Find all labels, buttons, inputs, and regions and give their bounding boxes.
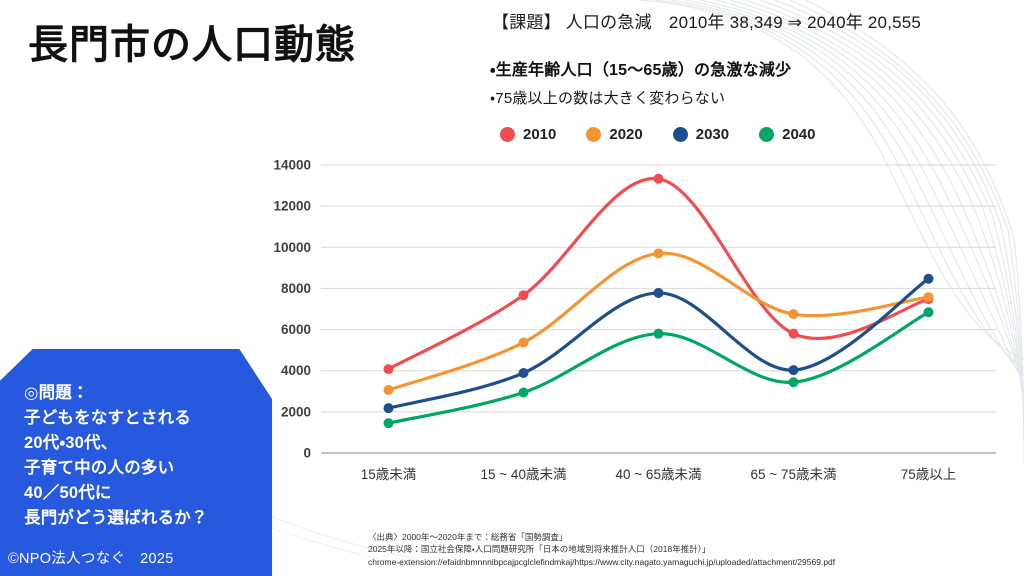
chart-data-point[interactable]: [789, 329, 799, 339]
chart-data-point[interactable]: [384, 418, 394, 428]
chart-data-point[interactable]: [519, 368, 529, 378]
x-axis-tick-label: 65 ~ 75歳未満: [751, 467, 837, 482]
legend-item-2040[interactable]: 2040: [759, 126, 815, 143]
chart-data-point[interactable]: [654, 248, 664, 258]
x-axis-tick-label: 15 ~ 40歳未満: [481, 467, 567, 482]
legend-swatch-circle-icon: [673, 127, 688, 142]
chart-data-point[interactable]: [654, 329, 664, 339]
chart-series-line: [389, 279, 929, 408]
callout-line-3: 20代・30代、: [24, 431, 264, 456]
population-line-chart: 0200040006000800010000120001400015歳未満15 …: [265, 150, 1010, 515]
callout-line-1: ◎問題：: [24, 381, 264, 406]
legend-label: 2010: [523, 126, 556, 143]
chart-data-point[interactable]: [654, 174, 664, 184]
x-axis-tick-label: 75歳以上: [901, 467, 957, 482]
chart-data-point[interactable]: [924, 274, 934, 284]
legend-item-2020[interactable]: 2020: [586, 126, 642, 143]
legend-item-2010[interactable]: 2010: [500, 126, 556, 143]
y-axis-tick-label: 2000: [281, 404, 311, 419]
page-title: 長門市の人口動態: [28, 12, 356, 70]
chart-legend: 2010 2020 2030 2040: [500, 126, 816, 143]
copyright-text: ©NPO法人つなぐ 2025: [8, 547, 174, 568]
legend-label: 2030: [696, 126, 729, 143]
chart-data-point[interactable]: [789, 365, 799, 375]
chart-data-point[interactable]: [924, 307, 934, 317]
chart-data-point[interactable]: [384, 385, 394, 395]
footnote-line-3: chrome-extension://efaidnbmnnnibpcajpcgl…: [368, 556, 835, 568]
callout-text: ◎問題： 子どもをなすとされる 20代・30代、 子育て中の人の多い 40／50…: [24, 381, 264, 531]
legend-item-2030[interactable]: 2030: [673, 126, 729, 143]
y-axis-tick-label: 4000: [281, 363, 311, 378]
legend-label: 2020: [609, 126, 642, 143]
chart-data-point[interactable]: [789, 309, 799, 319]
chart-data-point[interactable]: [384, 403, 394, 413]
callout-line-6: 長門がどう選ばれるか？: [24, 506, 264, 531]
chart-data-point[interactable]: [789, 377, 799, 387]
slide-canvas: 長門市の人口動態 【課題】 人口の急減 2010年 38,349 ⇒ 2040年…: [0, 0, 1024, 576]
chart-data-point[interactable]: [924, 292, 934, 302]
callout-line-4: 子育て中の人の多い: [24, 456, 264, 481]
header-note: 【課題】 人口の急減 2010年 38,349 ⇒ 2040年 20,555: [492, 14, 921, 31]
x-axis-tick-label: 40 ~ 65歳未満: [616, 467, 702, 482]
y-axis-tick-label: 14000: [273, 158, 311, 173]
footnote-line-2: 2025年以降：国立社会保障・人口問題研究所「日本の地域別将来推計人口（2018…: [368, 543, 835, 555]
chart-source-footnote: 〈出典〉2000年〜2020年まで：総務省「国勢調査」 2025年以降：国立社会…: [368, 531, 835, 568]
legend-swatch-circle-icon: [500, 127, 515, 142]
legend-label: 2040: [782, 126, 815, 143]
chart-series-2040: [384, 307, 934, 428]
header-note-text: 【課題】 人口の急減 2010年 38,349 ⇒ 2040年 20,555: [492, 14, 921, 31]
y-axis-tick-label: 8000: [281, 281, 311, 296]
callout-line-5: 40／50代に: [24, 481, 264, 506]
footnote-line-1: 〈出典〉2000年〜2020年まで：総務省「国勢調査」: [368, 531, 835, 543]
bullet-list: ・生産年齢人口（15〜65歳）の急激な減少 ・75歳以上の数は大きく変わらない: [490, 56, 791, 108]
question-callout: ◎問題： 子どもをなすとされる 20代・30代、 子育て中の人の多い 40／50…: [0, 349, 272, 576]
callout-line-2: 子どもをなすとされる: [24, 406, 264, 431]
chart-data-point[interactable]: [519, 338, 529, 348]
chart-series-line: [389, 253, 929, 390]
bullet-item-2: ・75歳以上の数は大きく変わらない: [490, 87, 791, 108]
chart-data-point[interactable]: [519, 388, 529, 398]
chart-data-point[interactable]: [384, 364, 394, 374]
x-axis-tick-label: 15歳未満: [361, 467, 417, 482]
y-axis-tick-label: 6000: [281, 322, 311, 337]
y-axis-tick-label: 12000: [273, 199, 311, 214]
chart-series-2030: [384, 274, 934, 413]
legend-swatch-circle-icon: [586, 127, 601, 142]
y-axis-tick-label: 0: [303, 446, 311, 461]
chart-series-2020: [384, 248, 934, 395]
bullet-item-1: ・生産年齢人口（15〜65歳）の急激な減少: [490, 56, 791, 80]
chart-data-point[interactable]: [519, 290, 529, 300]
chart-data-point[interactable]: [654, 288, 664, 298]
chart-series-line: [389, 178, 929, 369]
y-axis-tick-label: 10000: [273, 240, 311, 255]
legend-swatch-circle-icon: [759, 127, 774, 142]
